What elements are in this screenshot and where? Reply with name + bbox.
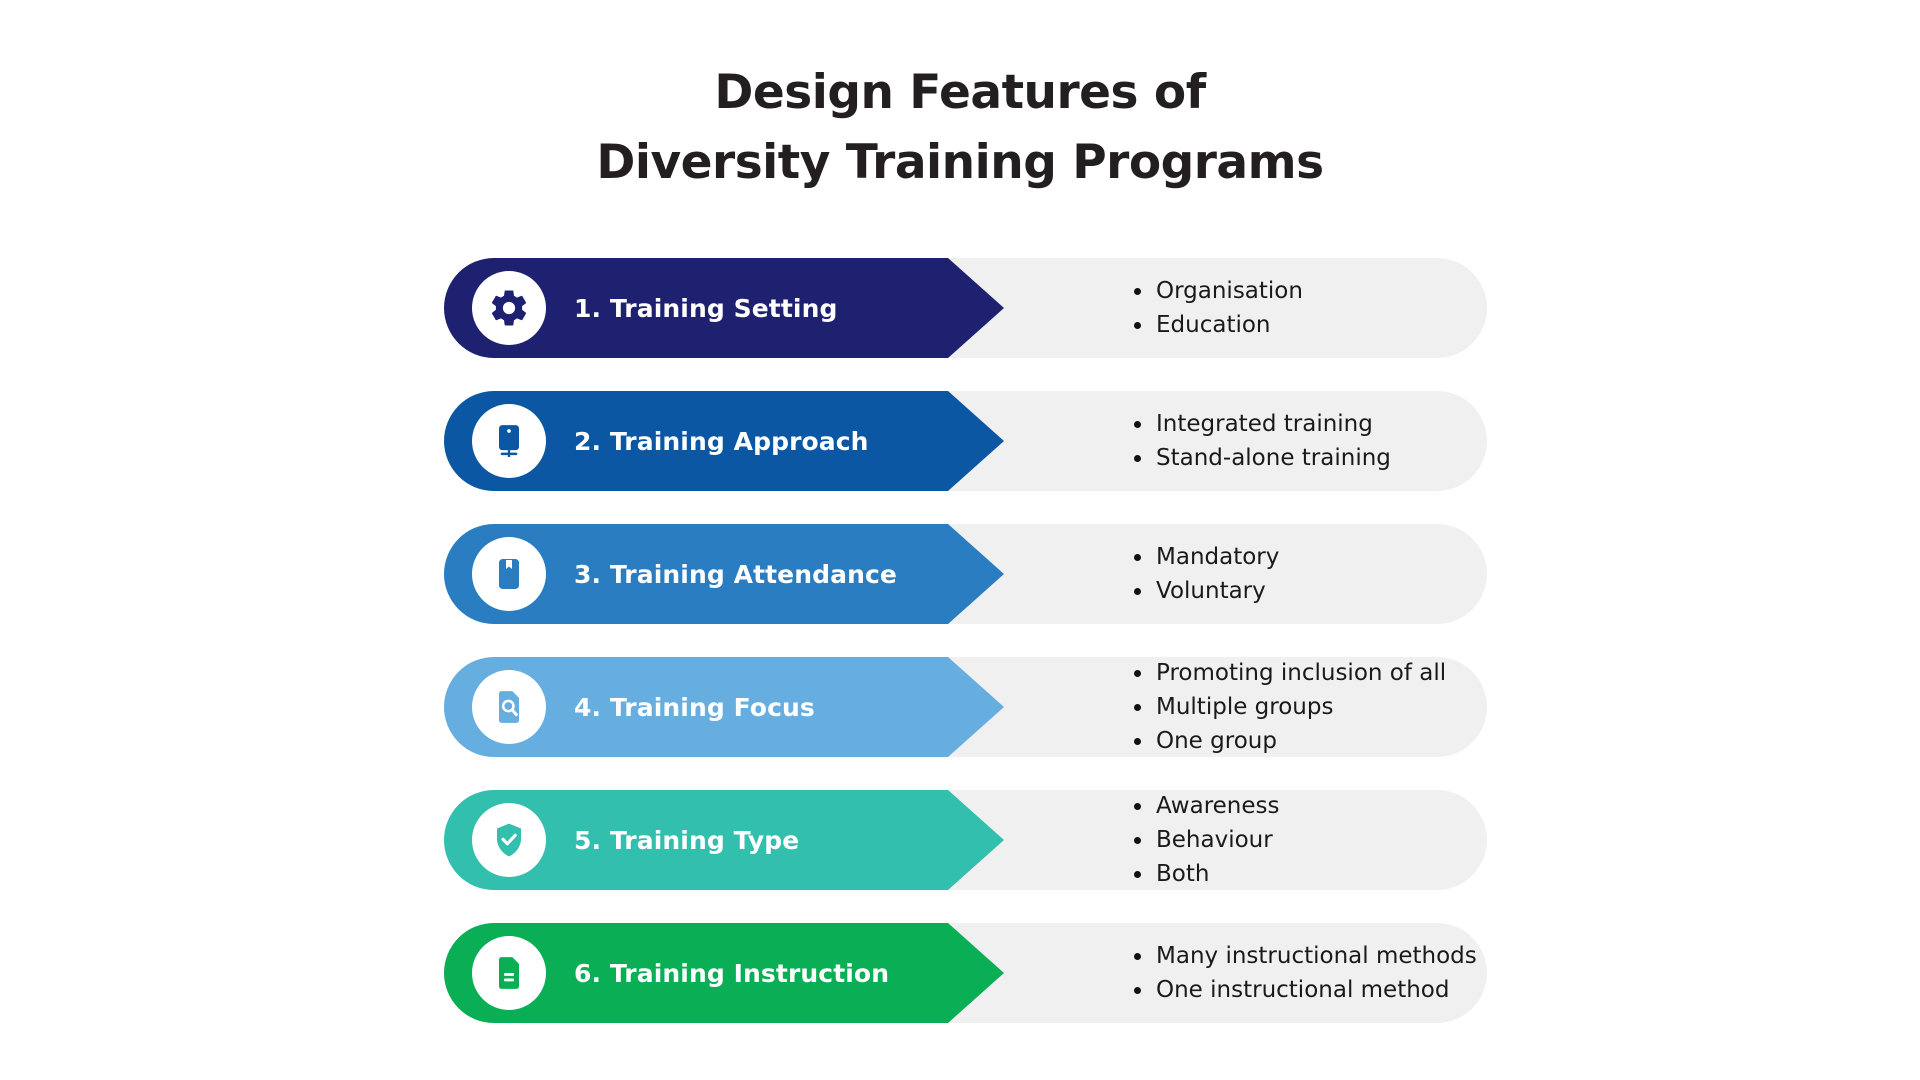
- notebook-icon: [489, 421, 529, 461]
- feature-bar-6[interactable]: 6. Training Instruction: [444, 923, 1004, 1023]
- document-search-icon: [489, 687, 529, 727]
- list-item: Multiple groups: [1130, 690, 1560, 724]
- feature-bar-label: 1. Training Setting: [574, 258, 837, 358]
- feature-bar-2[interactable]: 2. Training Approach: [444, 391, 1004, 491]
- feature-bullet-list: Promoting inclusion of allMultiple group…: [1130, 657, 1560, 757]
- feature-bar-4[interactable]: 4. Training Focus: [444, 657, 1004, 757]
- feature-bar-5[interactable]: 5. Training Type: [444, 790, 1004, 890]
- gear-icon-container: [472, 271, 546, 345]
- feature-bar-label: 6. Training Instruction: [574, 923, 889, 1023]
- feature-row: Many instructional methodsOne instructio…: [0, 923, 1920, 1023]
- feature-bullet-list: AwarenessBehaviourBoth: [1130, 790, 1560, 890]
- feature-bar-label: 3. Training Attendance: [574, 524, 897, 624]
- list-item: One instructional method: [1130, 973, 1560, 1007]
- feature-row: AwarenessBehaviourBoth5. Training Type: [0, 790, 1920, 890]
- shield-check-icon: [489, 820, 529, 860]
- list-item: Awareness: [1130, 789, 1560, 823]
- feature-bullet-list: Integrated trainingStand-alone training: [1130, 391, 1560, 491]
- feature-bullet-list: MandatoryVoluntary: [1130, 524, 1560, 624]
- gear-icon: [488, 287, 530, 329]
- feature-bullet-list: Many instructional methodsOne instructio…: [1130, 923, 1560, 1023]
- feature-bar-3[interactable]: 3. Training Attendance: [444, 524, 1004, 624]
- page-title-line-1: Design Features of: [0, 58, 1920, 128]
- list-item: One group: [1130, 724, 1560, 758]
- document-lines-icon: [489, 953, 529, 993]
- notebook-icon-container: [472, 404, 546, 478]
- list-item: Promoting inclusion of all: [1130, 656, 1560, 690]
- page-title-line-2: Diversity Training Programs: [0, 128, 1920, 198]
- feature-row: OrganisationEducation1. Training Setting: [0, 258, 1920, 358]
- document-search-icon-container: [472, 670, 546, 744]
- list-item: Both: [1130, 857, 1560, 891]
- list-item: Many instructional methods: [1130, 939, 1560, 973]
- feature-bar-label: 4. Training Focus: [574, 657, 815, 757]
- list-item: Voluntary: [1130, 574, 1560, 608]
- feature-bar-1[interactable]: 1. Training Setting: [444, 258, 1004, 358]
- feature-bar-label: 5. Training Type: [574, 790, 799, 890]
- feature-row: Promoting inclusion of allMultiple group…: [0, 657, 1920, 757]
- feature-bullet-list: OrganisationEducation: [1130, 258, 1560, 358]
- page-title: Design Features of Diversity Training Pr…: [0, 58, 1920, 198]
- document-lines-icon-container: [472, 936, 546, 1010]
- feature-rows: OrganisationEducation1. Training Setting…: [0, 258, 1920, 1056]
- feature-row: Integrated trainingStand-alone training2…: [0, 391, 1920, 491]
- list-item: Behaviour: [1130, 823, 1560, 857]
- list-item: Organisation: [1130, 274, 1560, 308]
- list-item: Integrated training: [1130, 407, 1560, 441]
- bookmark-book-icon-container: [472, 537, 546, 611]
- feature-bar-label: 2. Training Approach: [574, 391, 869, 491]
- list-item: Mandatory: [1130, 540, 1560, 574]
- infographic-page: Design Features of Diversity Training Pr…: [0, 0, 1920, 1080]
- bookmark-book-icon: [489, 554, 529, 594]
- list-item: Stand-alone training: [1130, 441, 1560, 475]
- list-item: Education: [1130, 308, 1560, 342]
- shield-check-icon-container: [472, 803, 546, 877]
- feature-row: MandatoryVoluntary3. Training Attendance: [0, 524, 1920, 624]
